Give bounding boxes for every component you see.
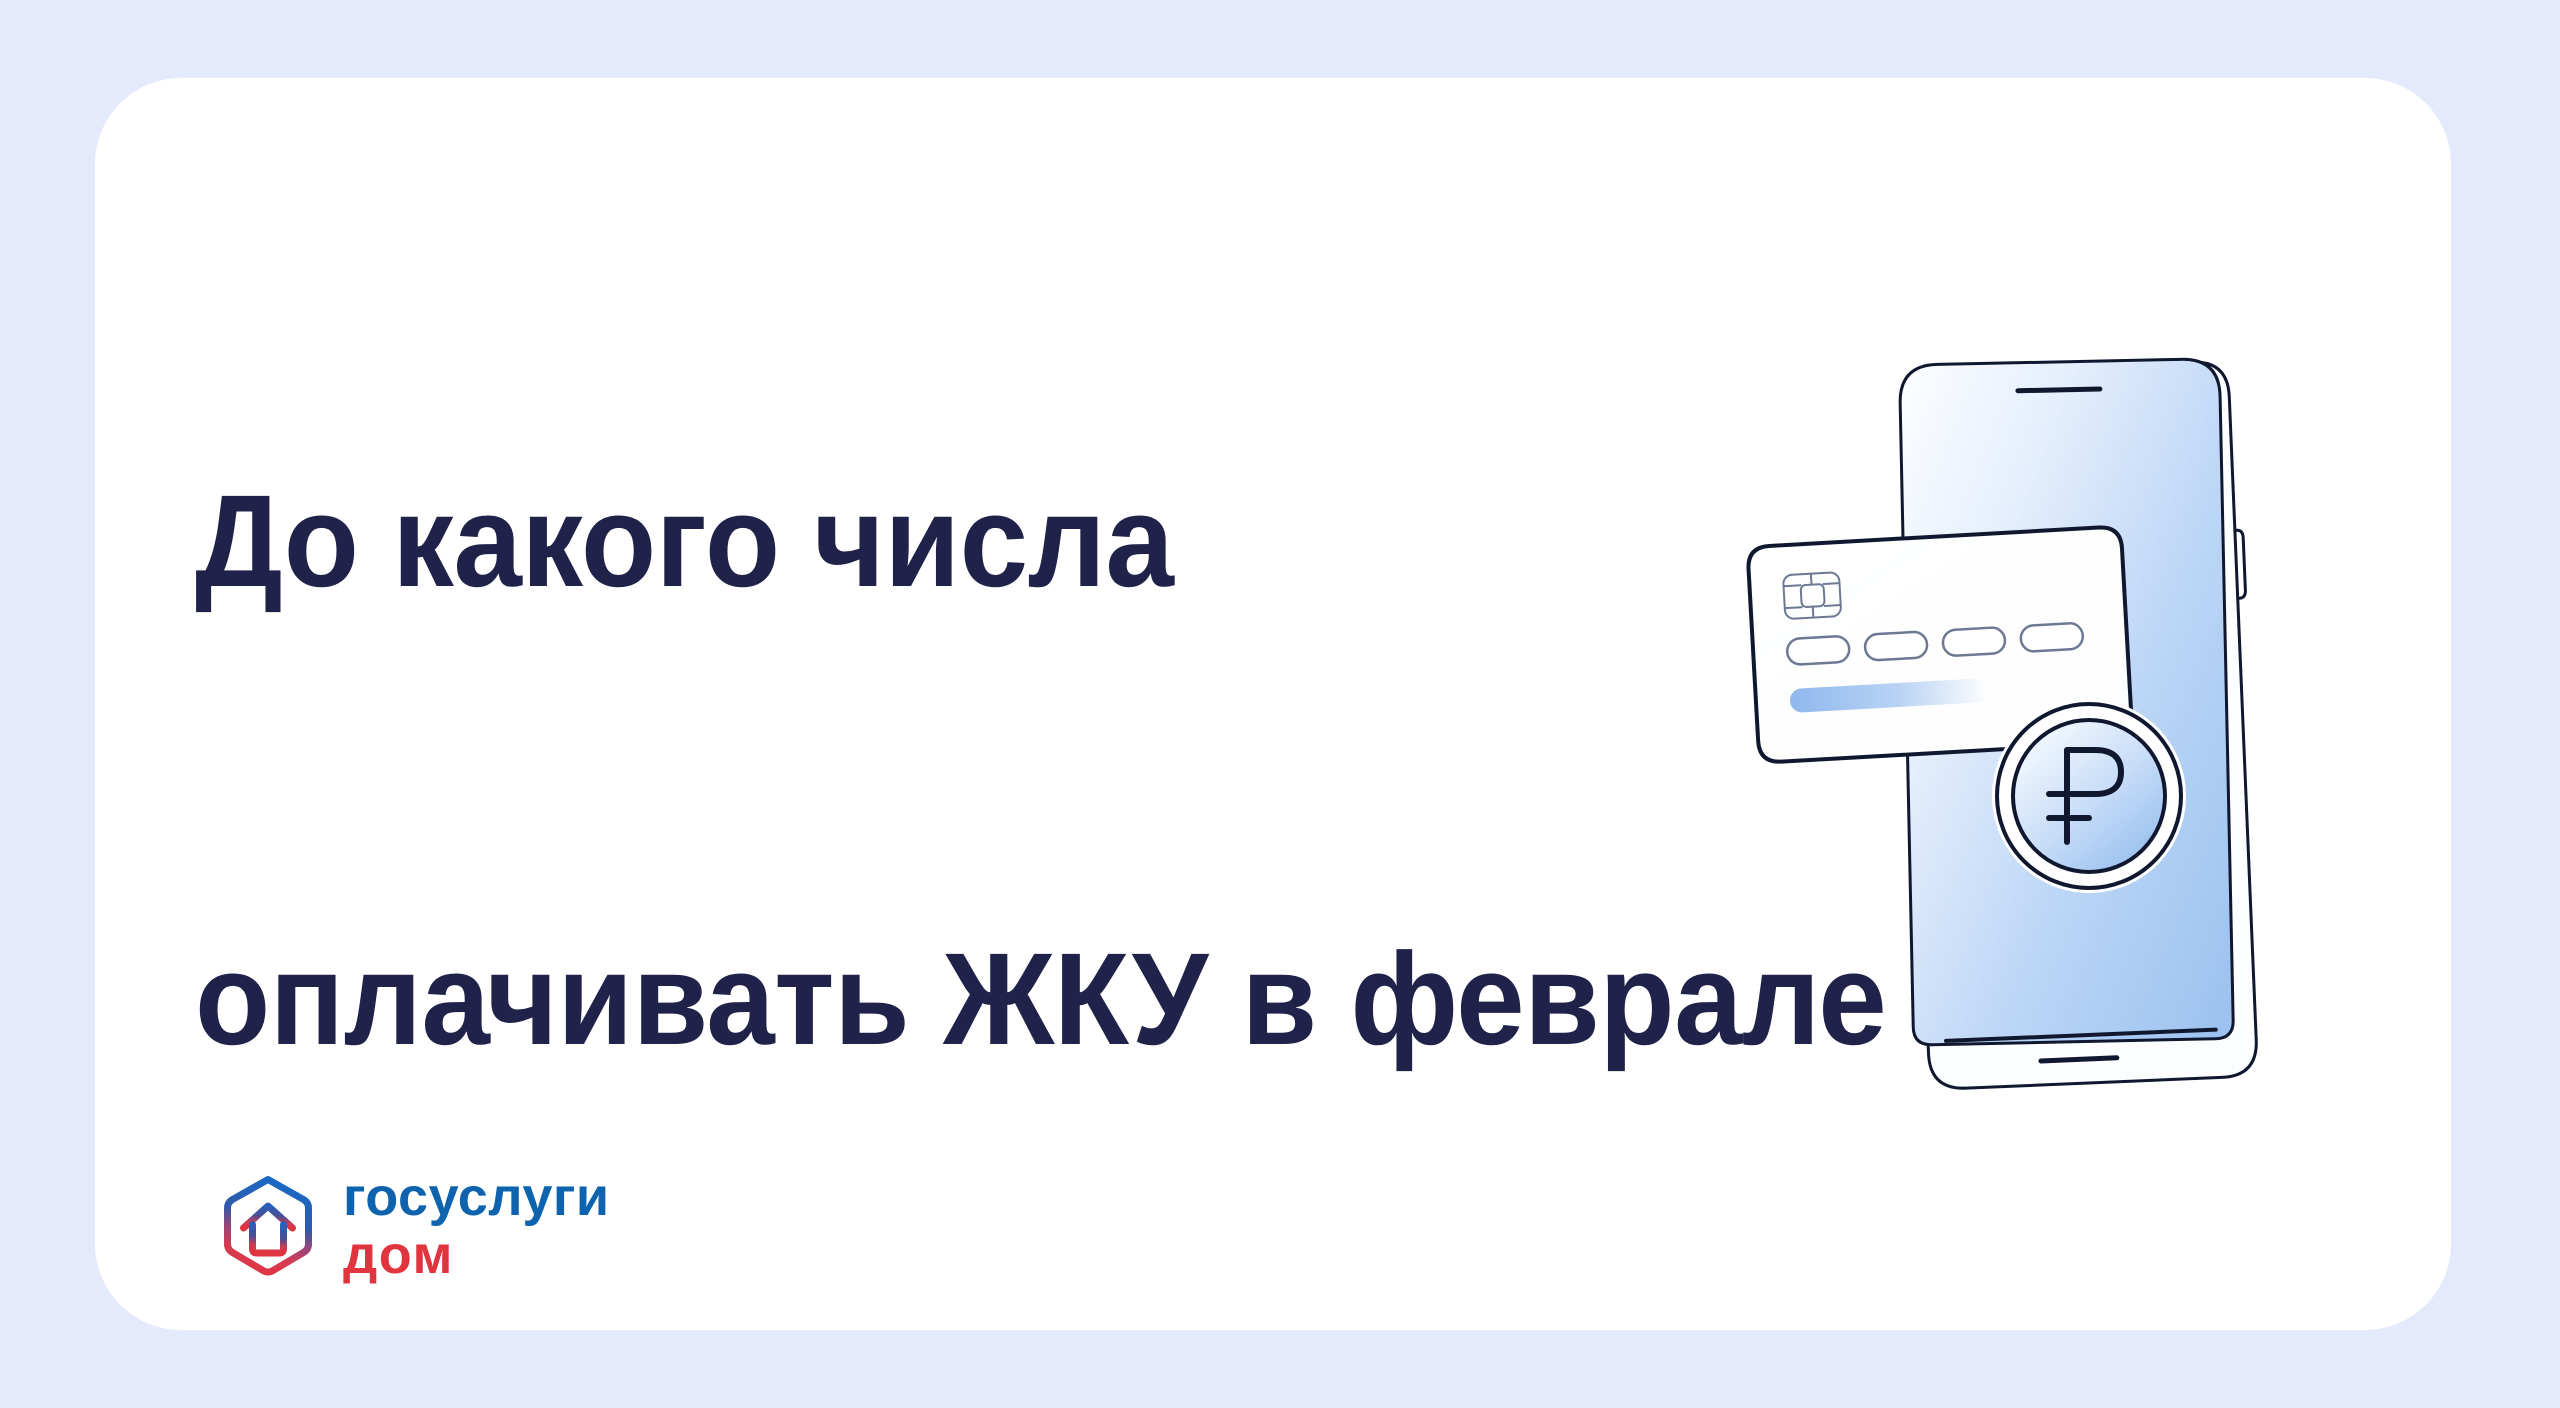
- payment-illustration-svg: [1737, 348, 2377, 1108]
- card-number-group: [2020, 623, 2083, 652]
- phone-earpiece: [2018, 389, 2100, 391]
- hexagon-house-icon: [215, 1173, 321, 1279]
- brand-wordmark: госуслуги дом: [343, 1170, 610, 1282]
- payment-illustration: [1737, 348, 2377, 1108]
- page-title-line-1: До какого числа: [195, 465, 1887, 618]
- rouble-coin-icon: [1992, 699, 2186, 893]
- page-title-line-2: оплачивать ЖКУ в феврале: [195, 923, 1887, 1076]
- brand-logo[interactable]: госуслуги дом: [215, 1170, 610, 1282]
- brand-word-dom: дом: [343, 1230, 610, 1282]
- poster-stage: До какого числа оплачивать ЖКУ в феврале: [0, 0, 2560, 1408]
- phone-home-indicator: [2041, 1058, 2117, 1061]
- brand-word-gosuslugi: госуслуги: [343, 1172, 610, 1224]
- content-card: До какого числа оплачивать ЖКУ в феврале: [95, 78, 2451, 1330]
- page-title: До какого числа оплачивать ЖКУ в феврале: [195, 160, 1887, 1330]
- card-number-group: [1864, 631, 1927, 660]
- card-number-group: [1787, 636, 1850, 665]
- card-number-group: [1942, 627, 2005, 656]
